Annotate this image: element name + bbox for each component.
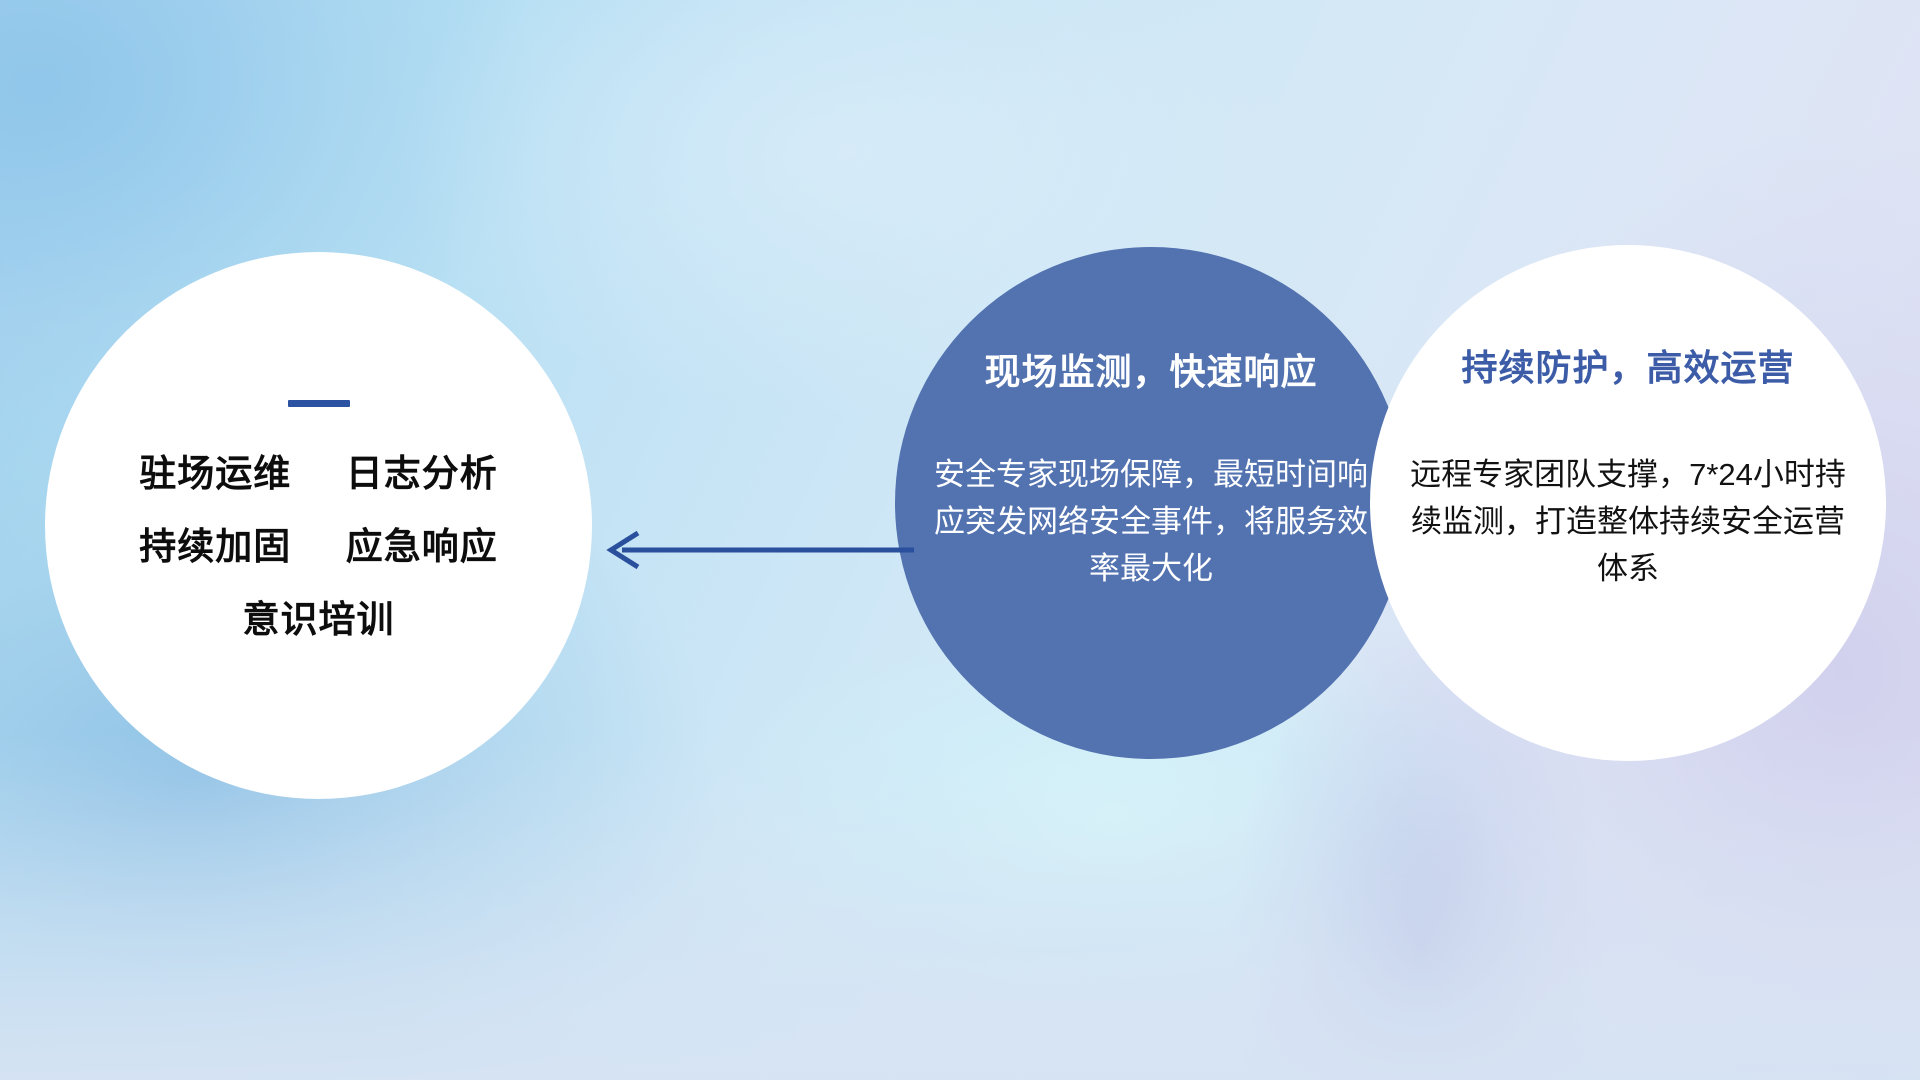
onsite-title: 现场监测，快速响应 <box>881 343 1421 395</box>
skills-row: 驻场运维 日志分析 <box>45 455 592 492</box>
skills-circle[interactable]: 驻场运维 日志分析 持续加固 应急响应 意识培训 <box>45 252 592 799</box>
skills-divider-icon <box>288 400 350 407</box>
skill-tag: 驻场运维 <box>139 453 291 494</box>
flow-arrow-left-icon <box>596 520 916 580</box>
skill-tag: 意识培训 <box>243 599 395 640</box>
slide-canvas: 驻场运维 日志分析 持续加固 应急响应 意识培训 现场监测，快速响应 安全专家现… <box>0 0 1920 1080</box>
skill-tag: 日志分析 <box>346 453 498 494</box>
onsite-monitoring-circle[interactable]: 现场监测，快速响应 安全专家现场保障，最短时间响应突发网络安全事件，将服务效率最… <box>895 247 1407 759</box>
ops-title: 持续防护，高效运营 <box>1370 339 1886 391</box>
onsite-description: 安全专家现场保障，最短时间响应突发网络安全事件，将服务效率最大化 <box>931 451 1371 592</box>
skills-row: 持续加固 应急响应 <box>45 528 592 565</box>
skill-tag: 持续加固 <box>139 526 291 567</box>
skills-row: 意识培训 <box>45 601 592 638</box>
ops-description: 远程专家团队支撑，7*24小时持续监测，打造整体持续安全运营体系 <box>1396 451 1860 592</box>
continuous-operations-circle[interactable]: 持续防护，高效运营 远程专家团队支撑，7*24小时持续监测，打造整体持续安全运营… <box>1370 245 1886 761</box>
ops-content: 持续防护，高效运营 远程专家团队支撑，7*24小时持续监测，打造整体持续安全运营… <box>1370 245 1886 761</box>
skills-content: 驻场运维 日志分析 持续加固 应急响应 意识培训 <box>45 400 592 638</box>
onsite-content: 现场监测，快速响应 安全专家现场保障，最短时间响应突发网络安全事件，将服务效率最… <box>895 247 1407 759</box>
skill-tag: 应急响应 <box>346 526 498 567</box>
